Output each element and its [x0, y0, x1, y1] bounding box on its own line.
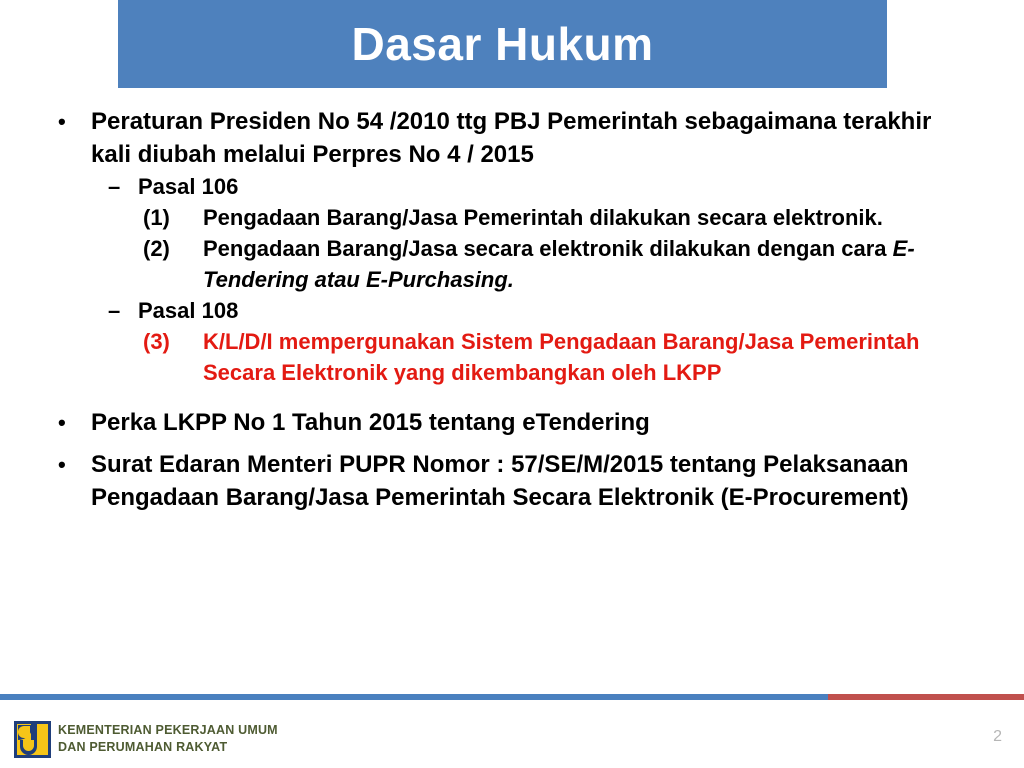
slide-title-banner: Dasar Hukum: [118, 0, 887, 88]
footer-divider-red-segment: [828, 694, 1024, 700]
dash-marker: –: [108, 171, 138, 202]
list-item-text: Pasal 108: [138, 295, 978, 326]
dash-marker: –: [108, 295, 138, 326]
bullet-marker: •: [58, 406, 91, 439]
numbering-marker: (2): [143, 233, 203, 264]
footer-divider-blue-segment: [0, 694, 828, 700]
list-item-text: Peraturan Presiden No 54 /2010 ttg PBJ P…: [91, 105, 936, 171]
slide-body: • Peraturan Presiden No 54 /2010 ttg PBJ…: [0, 105, 1024, 514]
page-number: 2: [993, 728, 1002, 746]
list-item-text: Surat Edaran Menteri PUPR Nomor : 57/SE/…: [91, 448, 936, 514]
list-item: • Surat Edaran Menteri PUPR Nomor : 57/S…: [0, 448, 1024, 514]
ministry-logo-icon: [14, 721, 51, 758]
list-item-text: K/L/D/I mempergunakan Sistem Pengadaan B…: [203, 326, 963, 388]
list-item: – Pasal 106: [0, 171, 1024, 202]
ministry-name-line1: KEMENTERIAN PEKERJAAN UMUM: [58, 722, 278, 739]
list-item-text: Pengadaan Barang/Jasa Pemerintah dilakuk…: [203, 202, 963, 233]
list-item-text: Pengadaan Barang/Jasa secara elektronik …: [203, 233, 963, 295]
footer-divider: [0, 694, 1024, 700]
bullet-marker: •: [58, 448, 91, 481]
page-title: Dasar Hukum: [351, 21, 653, 67]
ministry-name: KEMENTERIAN PEKERJAAN UMUM DAN PERUMAHAN…: [58, 722, 278, 756]
list-item-text: Perka LKPP No 1 Tahun 2015 tentang eTend…: [91, 406, 936, 439]
logo-u-counter: [23, 740, 34, 751]
list-item: • Peraturan Presiden No 54 /2010 ttg PBJ…: [0, 105, 1024, 171]
slide-canvas: { "slide": { "title": "Dasar Hukum", "ti…: [0, 0, 1024, 768]
list-item: (2) Pengadaan Barang/Jasa secara elektro…: [0, 233, 1024, 295]
list-spacer: [0, 439, 1024, 448]
list-item: – Pasal 108: [0, 295, 1024, 326]
list-item-highlighted: (3) K/L/D/I mempergunakan Sistem Pengada…: [0, 326, 1024, 388]
list-spacer: [0, 388, 1024, 406]
list-item-text: Pasal 106: [138, 171, 978, 202]
bullet-marker: •: [58, 105, 91, 138]
list-item: • Perka LKPP No 1 Tahun 2015 tentang eTe…: [0, 406, 1024, 439]
logo-p-counter: [18, 726, 30, 738]
numbering-marker: (3): [143, 326, 203, 357]
list-item: (1) Pengadaan Barang/Jasa Pemerintah dil…: [0, 202, 1024, 233]
ministry-name-line2: DAN PERUMAHAN RAKYAT: [58, 739, 278, 756]
list-item-text-plain: Pengadaan Barang/Jasa secara elektronik …: [203, 236, 893, 261]
numbering-marker: (1): [143, 202, 203, 233]
